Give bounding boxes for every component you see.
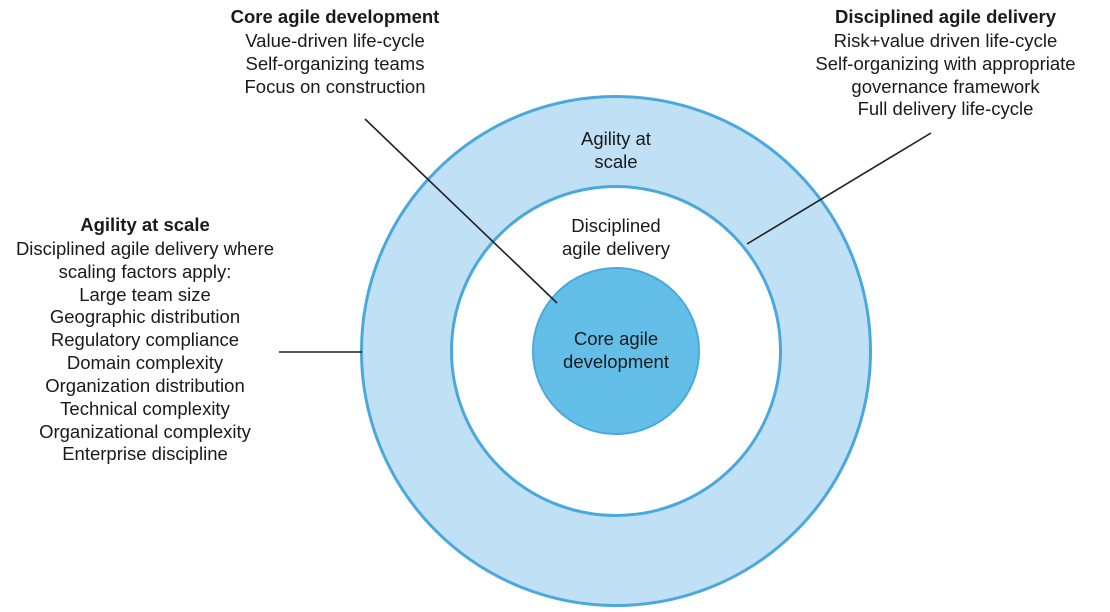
callout-agility-line-4: Geographic distribution [2, 306, 288, 329]
callout-agility-heading: Agility at scale [2, 214, 288, 237]
middle-circle-label: Disciplined agile delivery [536, 215, 696, 260]
callout-core-line-1: Value-driven life-cycle [190, 30, 480, 53]
callout-agility-line-6: Domain complexity [2, 352, 288, 375]
diagram-canvas: Agility at scale Disciplined agile deliv… [0, 0, 1110, 612]
callout-core-line-3: Focus on construction [190, 76, 480, 99]
callout-agility-line-2: scaling factors apply: [2, 261, 288, 284]
inner-circle-label: Core agile development [536, 328, 696, 373]
callout-agility-line-10: Enterprise discipline [2, 443, 288, 466]
callout-agility-line-3: Large team size [2, 284, 288, 307]
callout-core-heading: Core agile development [190, 6, 480, 29]
callout-dad-heading: Disciplined agile delivery [783, 6, 1108, 29]
callout-agility-at-scale: Agility at scale Disciplined agile deliv… [2, 214, 288, 466]
callout-agility-line-1: Disciplined agile delivery where [2, 238, 288, 261]
callout-agility-line-5: Regulatory compliance [2, 329, 288, 352]
callout-dad-line-2: Self-organizing with appropriate [783, 53, 1108, 76]
callout-agility-line-8: Technical complexity [2, 398, 288, 421]
callout-core-agile-development: Core agile development Value-driven life… [190, 6, 480, 98]
callout-dad-line-1: Risk+value driven life-cycle [783, 30, 1108, 53]
outer-circle-label: Agility at scale [536, 128, 696, 173]
callout-dad-line-3: governance framework [783, 76, 1108, 99]
callout-agility-line-9: Organizational complexity [2, 421, 288, 444]
callout-disciplined-agile-delivery: Disciplined agile delivery Risk+value dr… [783, 6, 1108, 121]
callout-dad-line-4: Full delivery life-cycle [783, 98, 1108, 121]
callout-agility-line-7: Organization distribution [2, 375, 288, 398]
callout-core-line-2: Self-organizing teams [190, 53, 480, 76]
